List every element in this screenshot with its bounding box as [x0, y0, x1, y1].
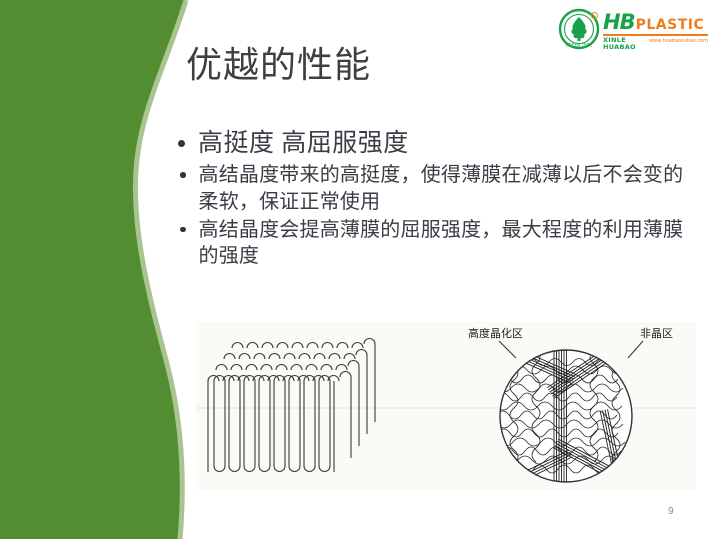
amorphous-region-label: 非晶区: [640, 327, 673, 340]
bullet-list: 高挺度 高屈服强度 高结晶度带来的高挺度，使得薄膜在减薄以后不会变的柔软，保证正…: [178, 128, 690, 271]
bullet-text: 高结晶度带来的高挺度，使得薄膜在减薄以后不会变的柔软，保证正常使用: [199, 162, 691, 216]
logo-brand-abbr: HB: [603, 12, 635, 33]
crystalline-region-label: 高度晶化区: [468, 326, 523, 340]
bullet-dot-icon: [178, 140, 185, 147]
bullet-text: 高结晶度会提高薄膜的屈服强度，最大程度的利用薄膜的强度: [199, 217, 691, 271]
list-item: 高结晶度会提高薄膜的屈服强度，最大程度的利用薄膜的强度: [178, 217, 690, 271]
logo-brand-word: PLASTIC: [636, 18, 705, 32]
amorphous-region-leader-line: [628, 341, 643, 358]
bullet-dot-icon: [180, 227, 186, 233]
bullet-dot-icon: [180, 172, 186, 178]
green-tree-seal-icon: GREEN TREE R: [558, 8, 600, 50]
page-title: 优越的性能: [186, 36, 371, 88]
svg-text:GREEN TREE: GREEN TREE: [566, 42, 593, 47]
folded-chain-lamella-diagram: [208, 339, 375, 473]
list-item: 高挺度 高屈服强度: [178, 128, 690, 160]
slide: GREEN TREE R HB PLASTIC XINLE HUABAO www…: [0, 0, 720, 539]
logo-company-pinyin: XINLE HUABAO: [603, 37, 647, 50]
spherulite-cross-section-diagram: 高度晶化区 非晶区: [468, 326, 673, 485]
company-logo: GREEN TREE R HB PLASTIC XINLE HUABAO www…: [558, 8, 708, 54]
svg-text:R: R: [593, 14, 596, 18]
page-number: 9: [668, 506, 674, 517]
crystalline-region-leader-line: [499, 341, 516, 358]
bullet-text: 高挺度 高屈服强度: [198, 128, 409, 160]
logo-website: www.huabaosuliao.com: [649, 39, 708, 44]
polymer-crystallinity-diagram: 高度晶化区 非晶区: [196, 322, 696, 490]
list-item: 高结晶度带来的高挺度，使得薄膜在减薄以后不会变的柔软，保证正常使用: [178, 162, 690, 216]
